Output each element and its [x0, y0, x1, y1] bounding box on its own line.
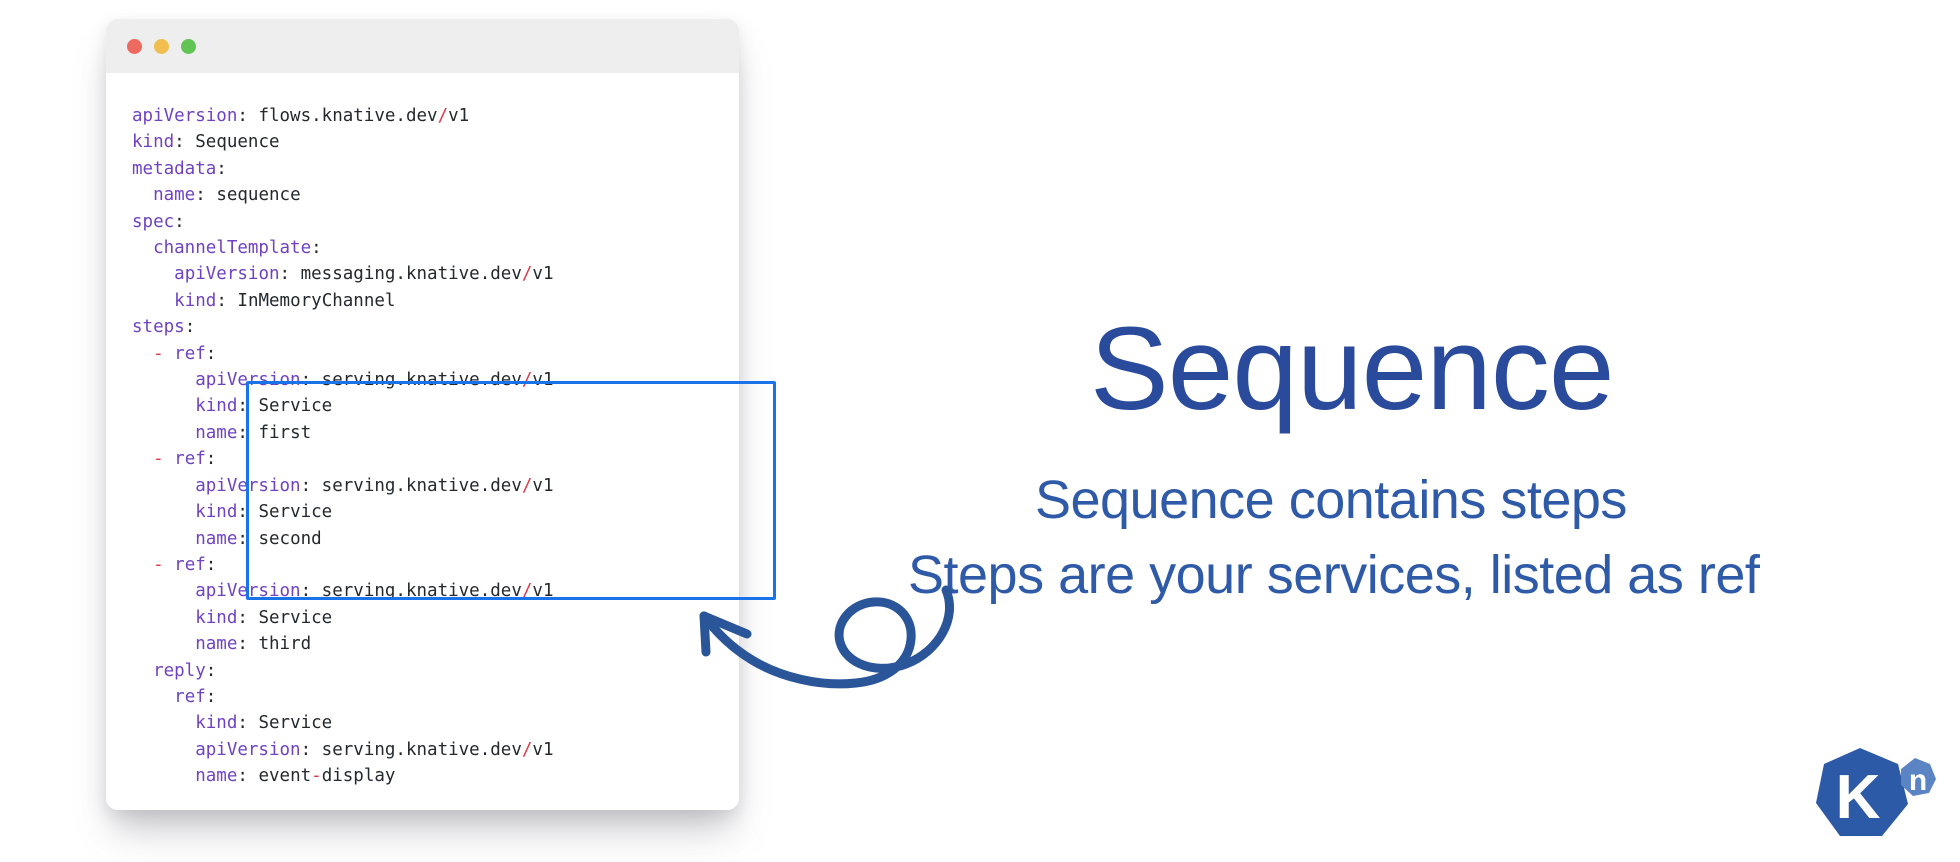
knative-letter-n: n — [1909, 764, 1927, 797]
subtitle-line-1: Sequence contains steps — [1035, 470, 1627, 530]
code-window: apiVersion: flows.knative.dev/v1 kind: S… — [106, 19, 739, 810]
yaml-code-block: apiVersion: flows.knative.dev/v1 kind: S… — [106, 103, 739, 790]
curved-arrow-icon — [670, 560, 960, 695]
knative-letter-k: K — [1836, 763, 1881, 832]
knative-logo-icon: K n — [1812, 740, 1942, 855]
knative-logo: K n — [1812, 740, 1942, 855]
code-editor-area[interactable]: apiVersion: flows.knative.dev/v1 kind: S… — [106, 73, 739, 810]
window-titlebar — [106, 19, 739, 73]
minimize-window-button[interactable] — [154, 39, 169, 54]
close-window-button[interactable] — [127, 39, 142, 54]
zoom-window-button[interactable] — [181, 39, 196, 54]
subtitle-line-2: Steps are your services, listed as ref — [908, 545, 1759, 605]
page-title: Sequence — [1090, 310, 1613, 428]
curved-arrow-annotation — [670, 560, 960, 695]
